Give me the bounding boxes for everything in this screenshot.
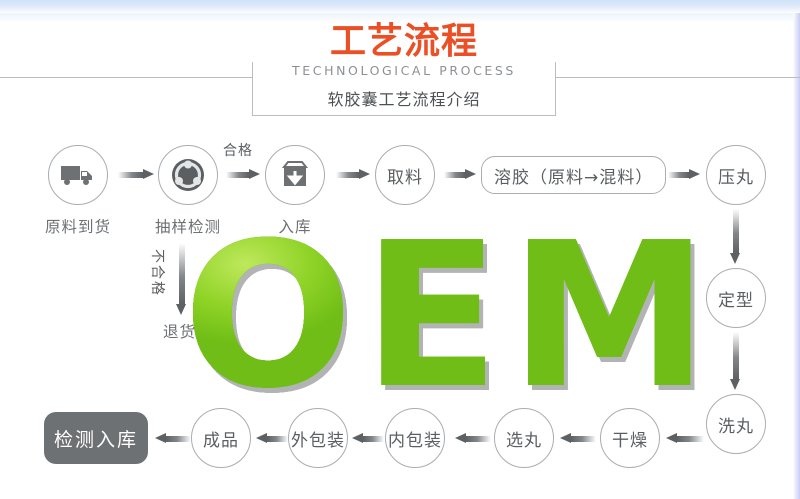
label-return-goods: 退货	[163, 320, 196, 342]
arrow-unqualified-to-return	[176, 243, 187, 315]
arrow-selection-to-inner	[455, 433, 491, 444]
arrow-warehousing-to-pickup	[336, 169, 370, 180]
arrow-drying-to-selection	[560, 433, 596, 444]
node-pellet-pressing[interactable]: 压丸	[706, 145, 766, 205]
node-shaping[interactable]: 定型	[706, 268, 766, 328]
page-subtitle-cn: 软胶囊工艺流程介绍	[293, 86, 515, 110]
node-inspection-warehousing[interactable]: 检测入库	[44, 412, 148, 464]
right-edge-band	[793, 13, 800, 499]
arrow-arrival-to-sampling	[118, 169, 154, 180]
node-inner-packaging[interactable]: 内包装	[385, 408, 445, 468]
node-drying[interactable]: 干燥	[600, 408, 660, 468]
caption-sampling-inspection: 抽样检测	[138, 215, 238, 237]
label-unqualified: 不合格	[148, 249, 168, 297]
arrow-washing-to-drying	[666, 433, 704, 444]
node-warehousing[interactable]	[265, 145, 325, 205]
node-finished-product[interactable]: 成品	[191, 408, 251, 468]
caption-warehousing: 入库	[255, 215, 335, 237]
oem-watermark: OEM	[183, 228, 703, 408]
arrow-finished-to-inspection	[155, 433, 191, 444]
arrow-pressing-to-shaping	[730, 209, 741, 264]
header: 工艺流程 TECHNOLOGICAL PROCESS 软胶囊工艺流程介绍	[243, 22, 565, 116]
node-sampling-inspection[interactable]	[158, 145, 218, 205]
arrow-sampling-to-warehousing	[226, 169, 260, 180]
node-material-pickup[interactable]: 取料	[375, 145, 435, 205]
inbox-down-arrow-icon	[279, 159, 311, 191]
arrow-outer-to-finished	[256, 433, 288, 444]
node-outer-packaging[interactable]: 外包装	[288, 408, 348, 468]
sampling-gear-icon	[169, 156, 207, 194]
node-sol-gel[interactable]: 溶胶（原料→混料）	[481, 156, 666, 194]
page-title: 工艺流程	[243, 22, 565, 62]
arrow-inner-to-outer	[352, 433, 384, 444]
page-subtitle-en: TECHNOLOGICAL PROCESS	[243, 63, 565, 78]
node-pellet-washing[interactable]: 洗丸	[706, 394, 766, 454]
node-pellet-selection[interactable]: 选丸	[494, 408, 554, 468]
arrow-pickup-to-solgel	[444, 169, 476, 180]
arrow-solgel-to-pressing	[668, 169, 700, 180]
header-rule-left	[0, 77, 252, 78]
top-gradient-band	[0, 0, 800, 13]
process-flow-poster: 工艺流程 TECHNOLOGICAL PROCESS 软胶囊工艺流程介绍 OEM…	[0, 0, 800, 499]
arrow-shaping-to-washing	[730, 332, 741, 390]
header-rule-right	[556, 77, 800, 78]
node-raw-material-arrival[interactable]	[48, 145, 108, 205]
label-qualified: 合格	[223, 140, 253, 160]
truck-icon	[60, 163, 96, 187]
caption-raw-material-arrival: 原料到货	[28, 215, 128, 237]
